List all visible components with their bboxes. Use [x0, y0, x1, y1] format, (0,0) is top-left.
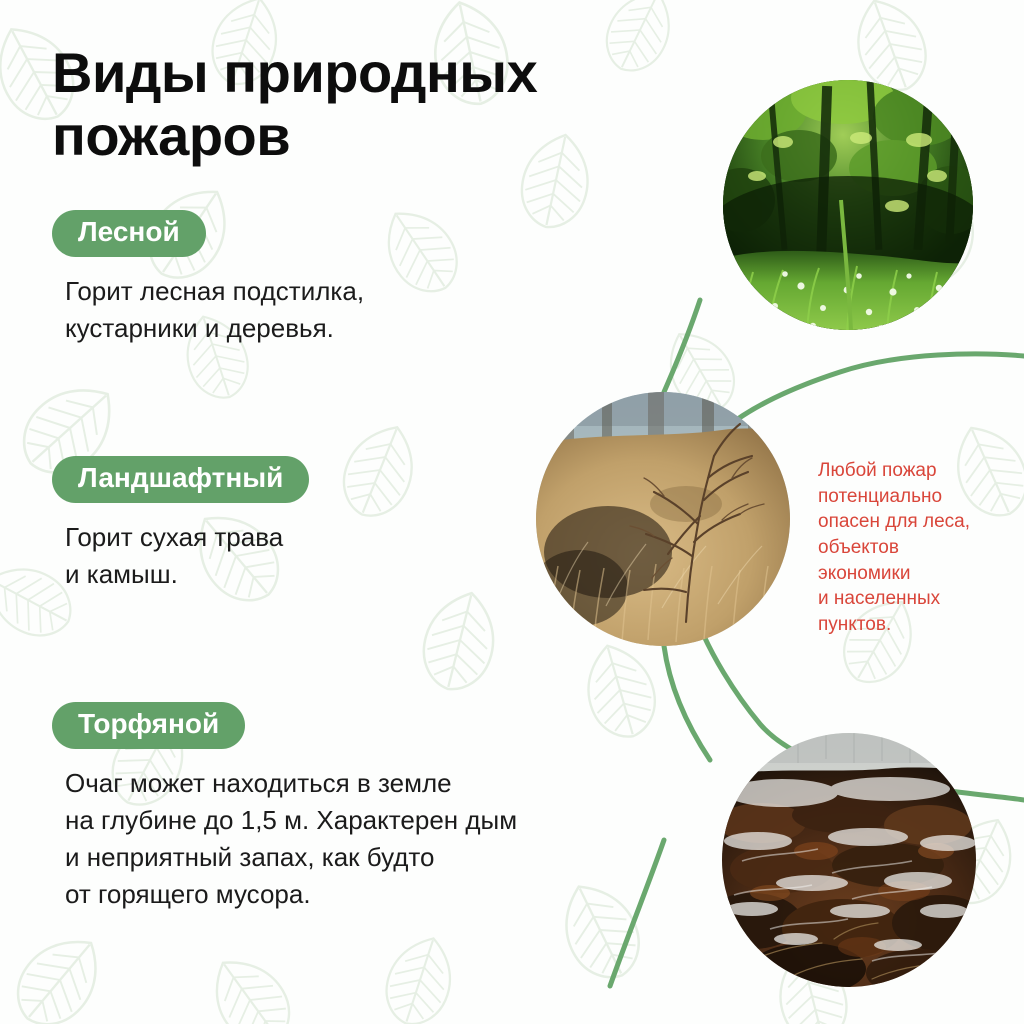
- description-peat: Очаг может находиться в земле на глубине…: [0, 765, 517, 913]
- content-column: Виды природных пожаров Лесной Горит лесн…: [0, 0, 660, 1024]
- badge-peat: Торфяной: [52, 702, 245, 749]
- smoldering-peat-photo: [722, 733, 976, 987]
- description-landscape: Горит сухая трава и камыш.: [0, 519, 309, 593]
- badge-forest: Лесной: [52, 210, 206, 257]
- section-landscape: Ландшафтный Горит сухая трава и камыш.: [0, 456, 309, 593]
- infographic-poster: Виды природных пожаров Лесной Горит лесн…: [0, 0, 1024, 1024]
- forest-photo-image: [723, 80, 973, 330]
- warning-note: Любой пожар потенциально опасен для леса…: [818, 458, 998, 637]
- page-title: Виды природных пожаров: [52, 42, 652, 167]
- badge-landscape: Ландшафтный: [52, 456, 309, 503]
- section-peat: Торфяной Очаг может находиться в земле н…: [0, 702, 517, 912]
- section-forest: Лесной Горит лесная подстилка, кустарник…: [0, 210, 364, 347]
- peat-photo-image: [722, 733, 976, 987]
- description-forest: Горит лесная подстилка, кустарники и дер…: [0, 273, 364, 347]
- forest-photo: [723, 80, 973, 330]
